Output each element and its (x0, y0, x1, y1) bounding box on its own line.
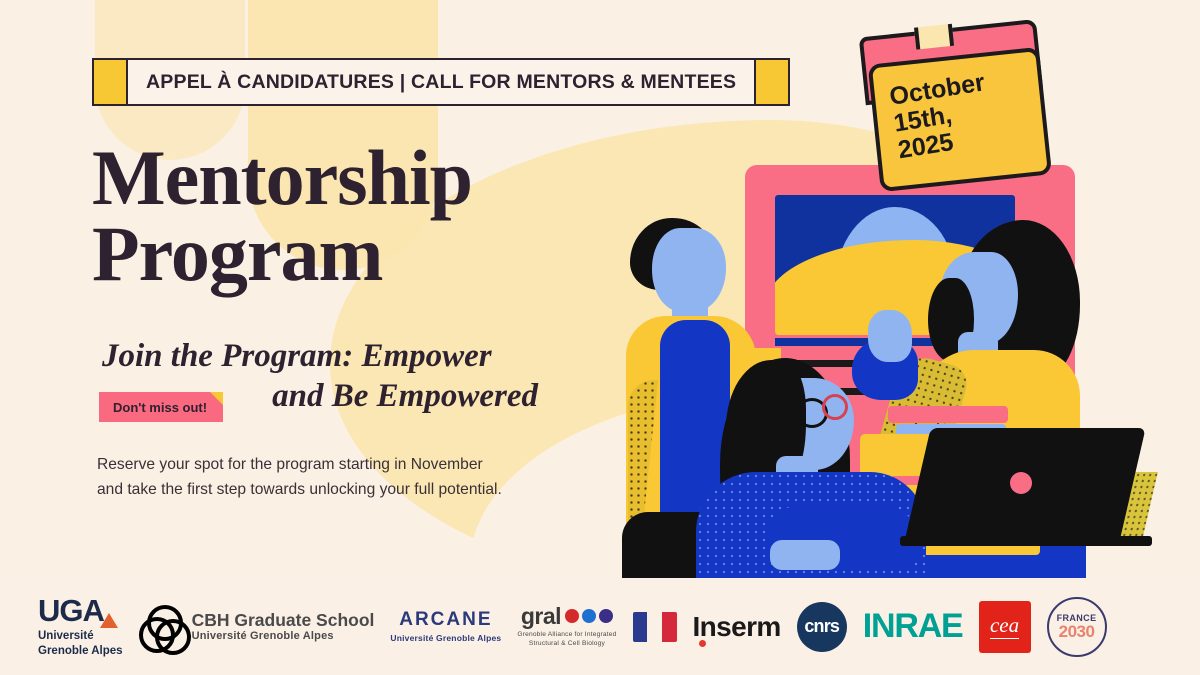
arcane-wordmark: ARCANE (399, 610, 492, 629)
flag-band-blue (633, 612, 648, 642)
cnrs-wordmark: cnrs (804, 616, 839, 637)
banner-cap-left (94, 60, 128, 104)
folder-notch (914, 24, 954, 50)
dont-miss-out-badge: Don't miss out! (99, 392, 223, 422)
subtitle-line1: Join the Program: Empower (102, 336, 538, 376)
logo-gral: gral Grenoble Alliance for Integrated St… (517, 605, 616, 648)
person-center-glasses-right (822, 394, 848, 420)
uga-mark-text: UGA (38, 595, 104, 626)
person-center-cuff (770, 540, 840, 570)
uga-triangle-icon (100, 613, 118, 628)
inserm-dot-icon (699, 640, 706, 647)
body-text: Reserve your spot for the program starti… (97, 452, 509, 503)
arcane-subtitle: Université Grenoble Alpes (390, 633, 501, 643)
page-title-line1: Mentorship (92, 134, 472, 221)
badge-label: Don't miss out! (113, 400, 207, 415)
cea-box-icon: cea (979, 601, 1031, 653)
gral-mark-row: gral (521, 605, 613, 628)
gral-dot-blue (582, 609, 596, 623)
uga-wordmark: UGA (38, 595, 104, 626)
logo-french-republic (633, 612, 677, 642)
gral-dot-red (565, 609, 579, 623)
laptop-logo-dot (1010, 472, 1032, 494)
cnrs-circle-icon: cnrs (797, 602, 847, 652)
logo-arcane: ARCANE Université Grenoble Alpes (390, 610, 501, 643)
french-flag-icon (633, 612, 677, 642)
inrae-wordmark: INRAE (863, 607, 963, 646)
gral-wordmark: gral (521, 605, 561, 628)
france-2030-circle-icon: FRANCE 2030 (1047, 597, 1107, 657)
inserm-wordmark: Inserm (693, 611, 781, 643)
badge-fold-corner (210, 392, 223, 405)
cbh-title: CBH Graduate School (192, 611, 375, 630)
partner-logo-bar: UGA Université Grenoble Alpes CBH Gradua… (0, 578, 1200, 675)
uga-sub-line1: Université (38, 629, 123, 643)
person-right-hand (868, 310, 912, 362)
page-title: Mentorship Program (92, 140, 612, 291)
book-pink (888, 406, 1008, 423)
uga-sub-line2: Grenoble Alpes (38, 644, 123, 658)
logo-inrae: INRAE (863, 607, 963, 646)
cbh-ring-green (155, 619, 191, 655)
logo-inserm: Inserm (693, 611, 781, 643)
cea-wordmark: cea (990, 614, 1019, 638)
logo-cbh: CBH Graduate School Université Grenoble … (139, 605, 375, 649)
gral-sub-line2: Structural & Cell Biology (517, 640, 616, 649)
poster-root: APPEL À CANDIDATURES | CALL FOR MENTORS … (0, 0, 1200, 675)
cbh-subtitle: Université Grenoble Alpes (192, 630, 375, 642)
gral-subtitle: Grenoble Alliance for Integrated Structu… (517, 631, 616, 648)
logo-cea: cea (979, 601, 1031, 653)
uga-subtitle: Université Grenoble Alpes (38, 629, 123, 658)
flag-band-red (662, 612, 677, 642)
cbh-text: CBH Graduate School Université Grenoble … (192, 611, 375, 642)
cbh-rings-icon (139, 605, 183, 649)
flag-band-white (647, 612, 662, 642)
france-2030-number: 2030 (1059, 623, 1095, 640)
logo-cnrs: cnrs (797, 602, 847, 652)
logo-france-2030: FRANCE 2030 (1047, 597, 1107, 657)
page-title-line2: Program (92, 216, 612, 292)
gral-dot-purple (599, 609, 613, 623)
gral-dots-icon (565, 609, 613, 623)
logo-uga: UGA Université Grenoble Alpes (38, 595, 123, 658)
gral-sub-line1: Grenoble Alliance for Integrated (517, 631, 616, 640)
deadline-date-folder: October 15th, 2025 (863, 26, 1044, 179)
laptop-base (900, 536, 1152, 546)
